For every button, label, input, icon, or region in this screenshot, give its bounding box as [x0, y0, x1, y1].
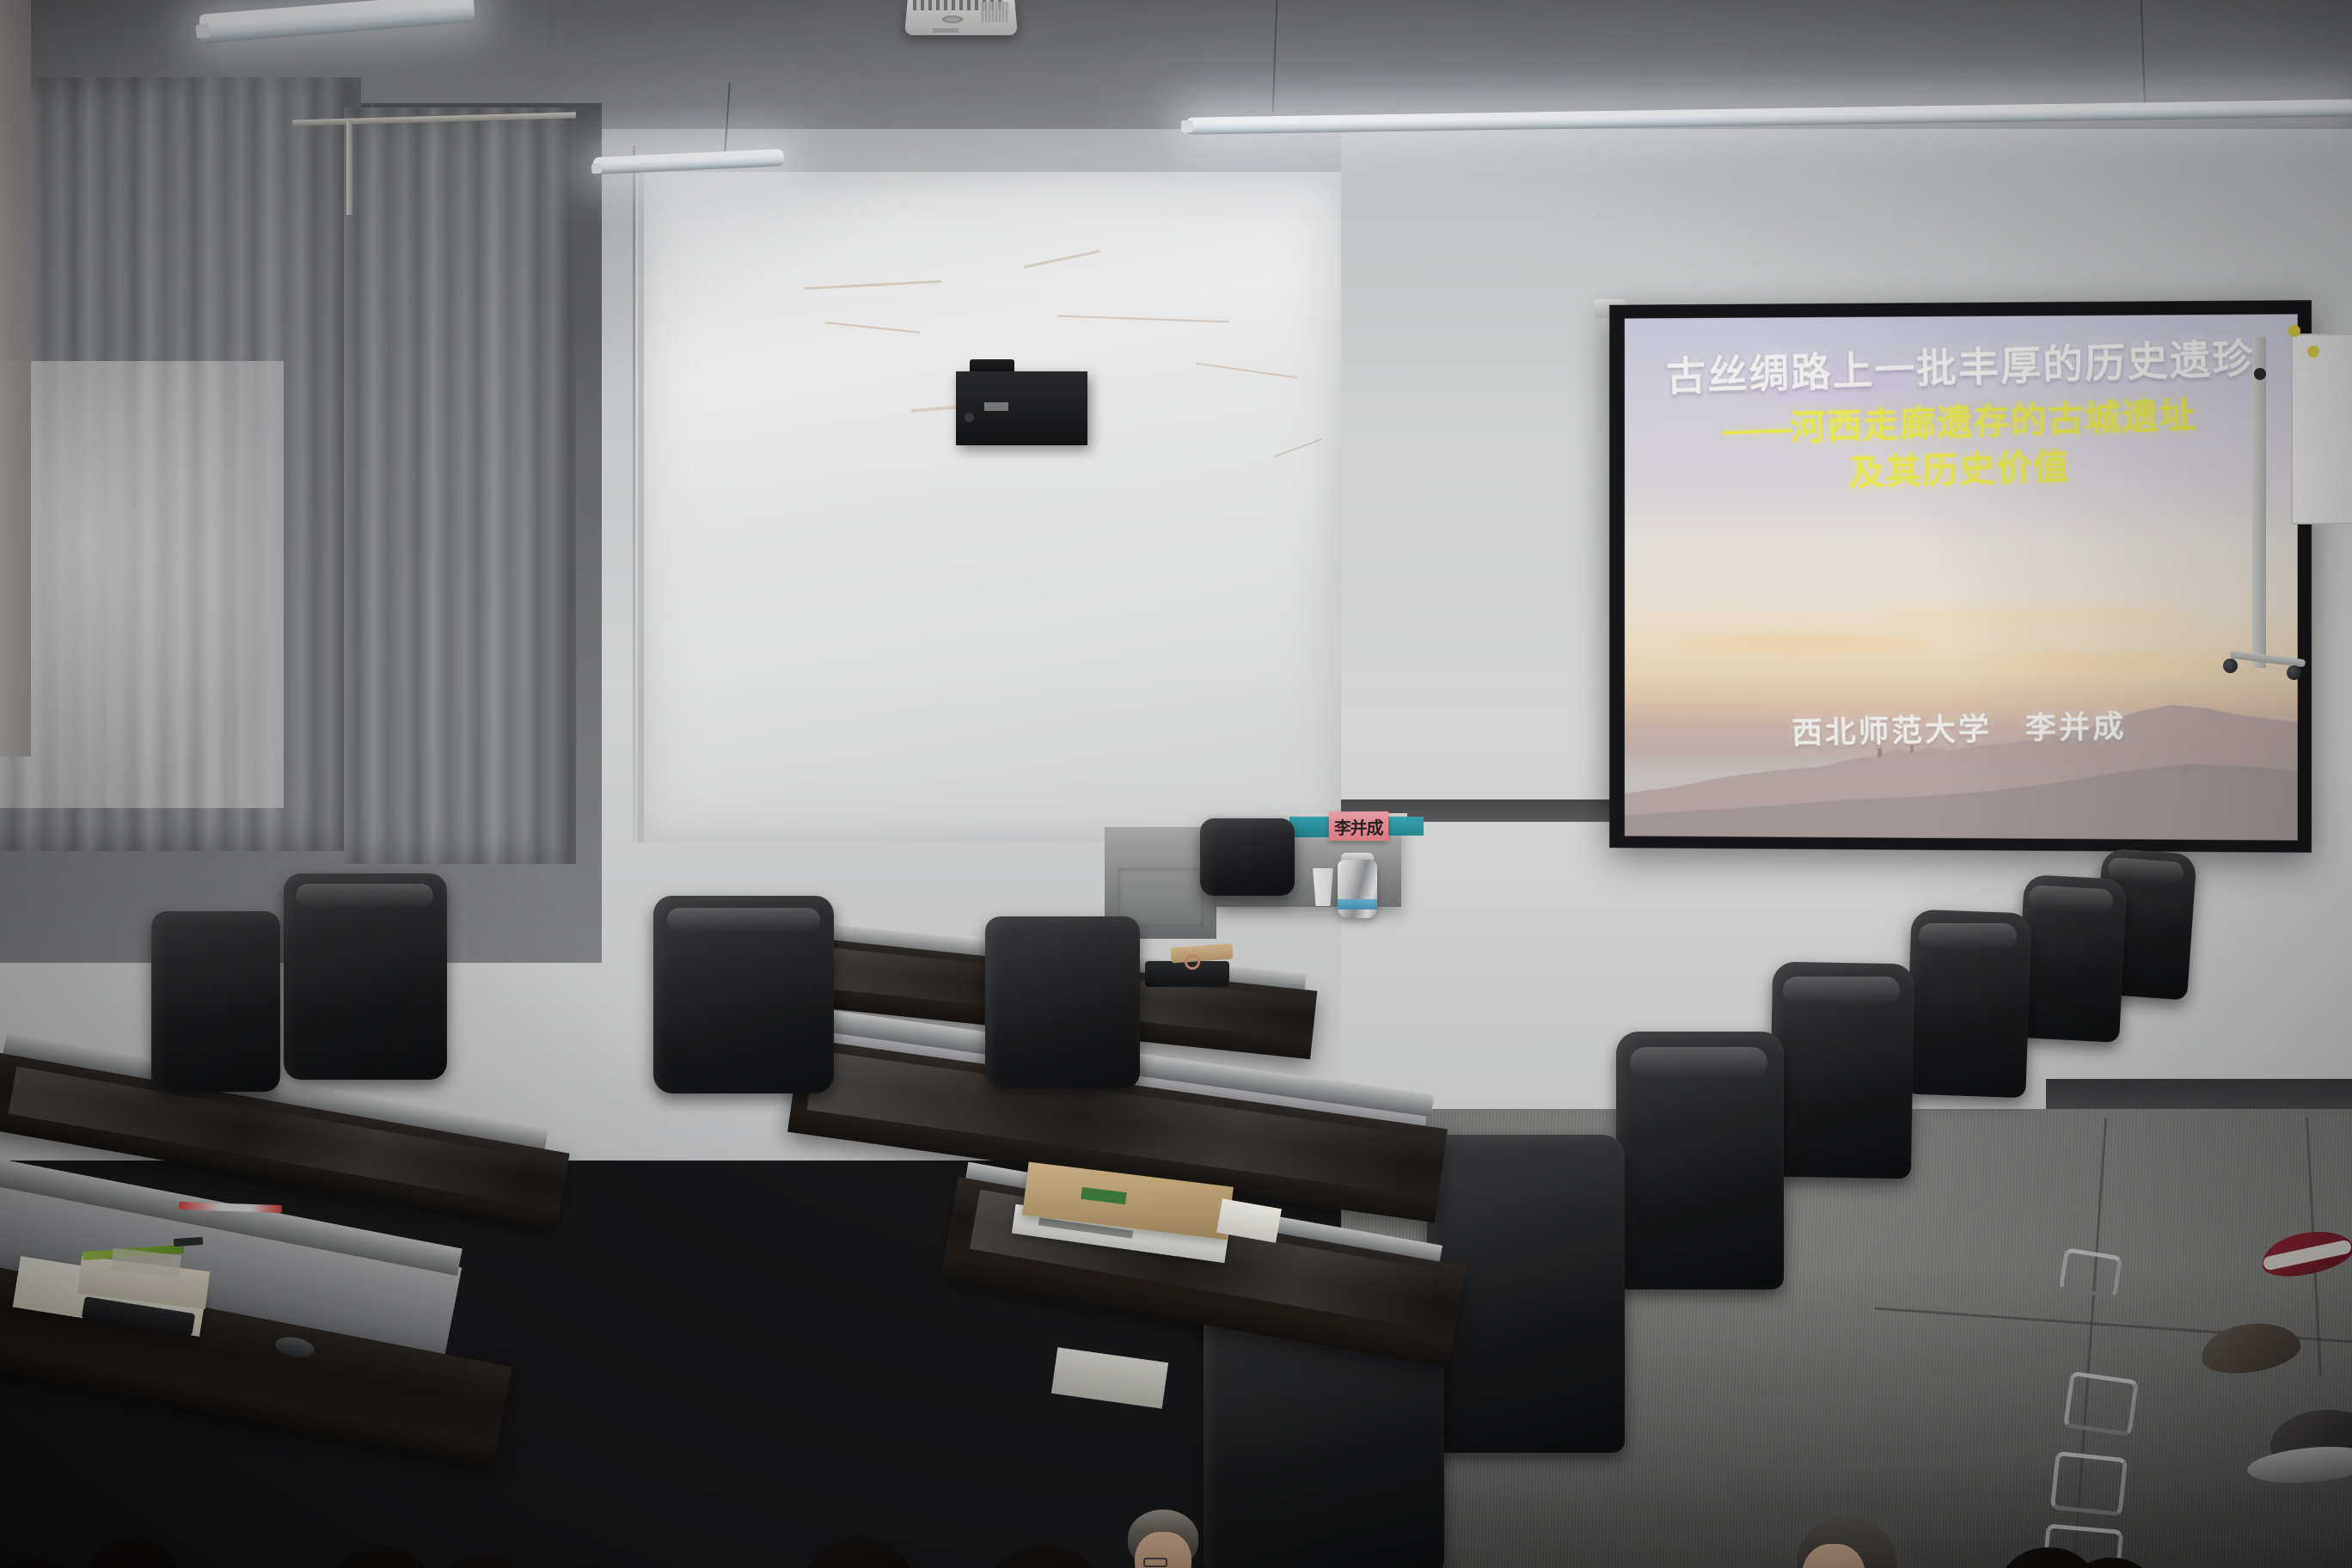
lecture-room-photo: 古丝绸路上一批丰厚的历史遗珍 ——河西走廊遗存的古城遗址 及其历史价值 西北师范… [0, 0, 2352, 1568]
chair[interactable] [653, 896, 834, 1093]
mobile-whiteboard [2291, 334, 2352, 524]
slide-subtitle: ——河西走廊遗存的古城遗址 及其历史价值 [1625, 388, 2298, 504]
chair-base-leg [2059, 1247, 2123, 1299]
projection-screen-frame: 古丝绸路上一批丰厚的历史遗珍 ——河西走廊遗存的古城遗址 及其历史价值 西北师范… [1609, 300, 2312, 853]
front-whiteboard [636, 172, 1341, 842]
wall-seam [633, 146, 635, 842]
head [84, 1537, 181, 1568]
chair[interactable] [1616, 1032, 1784, 1289]
slide-subtitle-dash: —— [1721, 407, 1790, 450]
teal-cloth [1387, 817, 1424, 836]
head [430, 1554, 533, 1568]
chair[interactable] [985, 916, 1140, 1088]
head [801, 1537, 918, 1568]
caster-wheel-icon [2287, 665, 2301, 680]
chair-base-leg [2063, 1371, 2139, 1436]
teal-cloth [1289, 817, 1331, 837]
chair[interactable] [1905, 910, 2031, 1099]
light-end-cap [195, 23, 210, 38]
speaker-brand-label [984, 402, 1008, 411]
wall-speaker [956, 371, 1087, 445]
whiteboard-stand-post [2252, 337, 2266, 668]
presenter-chair[interactable] [1200, 818, 1295, 896]
board-clip-yellow-icon [2288, 325, 2300, 337]
slide-sky-cloud [1879, 609, 2190, 624]
kettle-label-band [1338, 899, 1377, 910]
nameplate-text: 李并成 [1334, 813, 1382, 838]
chair[interactable] [151, 911, 280, 1092]
head [542, 1565, 636, 1568]
window-curtain-right [344, 107, 576, 864]
head [980, 1546, 1109, 1568]
head [327, 1546, 435, 1568]
chair-base-leg [2050, 1451, 2128, 1516]
projector-label [933, 28, 959, 33]
chair[interactable] [284, 873, 447, 1080]
curtain-daylight-patch [0, 361, 284, 808]
window-curtain-left [0, 77, 361, 851]
chair[interactable] [2016, 874, 2128, 1043]
head [0, 1559, 88, 1568]
paper-sheet [1051, 1347, 1168, 1409]
light-end-cap [1181, 120, 1193, 132]
slide-subtitle-line-1: 河西走廊遗存的古城遗址 [1789, 395, 2196, 448]
curtain-edge-highlight [0, 0, 31, 756]
light-end-cap [591, 163, 603, 175]
projector-lens-icon [942, 15, 963, 23]
phone-ring-holder-icon [1185, 954, 1200, 970]
caster-wheel-icon [2223, 658, 2238, 673]
projection-screen[interactable]: 古丝绸路上一批丰厚的历史遗珍 ——河西走廊遗存的古城遗址 及其历史价值 西北师范… [1625, 314, 2298, 840]
whiteboard-frame-edge [638, 172, 644, 842]
speaker-nameplate: 李并成 [1329, 812, 1388, 841]
speaker-knob [965, 413, 974, 422]
slide-sky-cloud [1675, 634, 1931, 653]
projector-vent [980, 2, 1009, 22]
presenter-glasses-icon [1143, 1558, 1167, 1567]
curtain-rod-post [346, 120, 352, 215]
board-clip-yellow-icon [2307, 346, 2319, 358]
board-knob-icon [2254, 368, 2266, 380]
chair[interactable] [1769, 962, 1914, 1179]
